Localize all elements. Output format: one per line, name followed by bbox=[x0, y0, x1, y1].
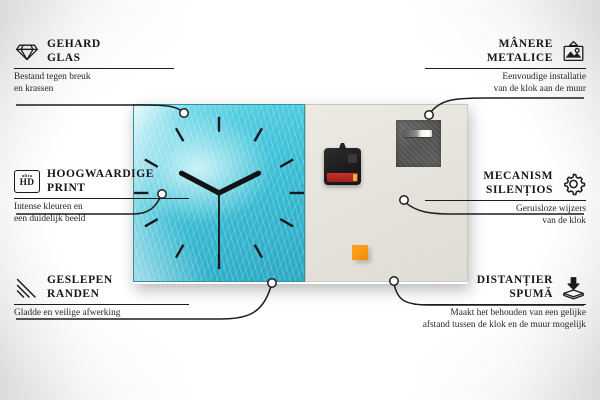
feature-title: HOOGWAARDIGE PRINT bbox=[47, 168, 154, 195]
feature-divider bbox=[14, 198, 189, 199]
feature-description: Maakt het behouden van een gelijke afsta… bbox=[414, 308, 586, 331]
feature-header: MECANISM SILENȚIOS bbox=[425, 170, 586, 197]
metal-hanger-plate bbox=[396, 120, 441, 167]
mechanism-hook bbox=[336, 143, 349, 150]
feature-divider bbox=[425, 200, 586, 201]
feature-header: MÂNERE METALICE bbox=[425, 38, 586, 65]
feature-description: Bestand tegen breuk en krassen bbox=[14, 72, 174, 95]
feature-description: Gladde en veilige afwerking bbox=[14, 308, 189, 320]
feature-title: DISTANȚIER SPUMĂ bbox=[477, 274, 553, 301]
feature-header: ultra HD HOOGWAARDIGE PRINT bbox=[14, 168, 189, 195]
feature-description: Eenvoudige installatie van de klok aan d… bbox=[425, 72, 586, 95]
feature-title: GESLEPEN RANDEN bbox=[47, 274, 113, 301]
gear-icon bbox=[560, 172, 586, 196]
feature-hoogwaardige-print: ultra HD HOOGWAARDIGE PRINT Intense kleu… bbox=[14, 168, 189, 225]
feature-title: MÂNERE METALICE bbox=[487, 38, 553, 65]
infographic-canvas: GEHARD GLAS Bestand tegen breuk en krass… bbox=[0, 0, 600, 400]
feature-description: Geruisloze wijzers van de klok bbox=[425, 204, 586, 227]
feature-geslepen-randen: GESLEPEN RANDEN Gladde en veilige afwerk… bbox=[14, 274, 189, 320]
feature-description: Intense kleuren en een duidelijk beeld bbox=[14, 202, 189, 225]
feature-divider bbox=[14, 68, 174, 69]
feature-distantier-spuma: DISTANȚIER SPUMĂ Maakt het behouden van … bbox=[414, 274, 586, 331]
feature-divider bbox=[414, 304, 586, 305]
foam-spacer bbox=[352, 245, 368, 260]
feature-title: MECANISM SILENȚIOS bbox=[483, 170, 553, 197]
diamond-icon bbox=[14, 40, 40, 64]
mechanism-dial bbox=[348, 154, 357, 163]
feature-divider bbox=[14, 304, 189, 305]
battery bbox=[327, 173, 358, 182]
feature-header: GESLEPEN RANDEN bbox=[14, 274, 189, 301]
feature-gehard-glas: GEHARD GLAS Bestand tegen breuk en krass… bbox=[14, 38, 174, 95]
ultra-hd-icon: ultra HD bbox=[14, 170, 40, 194]
feature-title: GEHARD GLAS bbox=[47, 38, 101, 65]
clock-mechanism bbox=[324, 148, 361, 185]
hd-badge: ultra HD bbox=[14, 170, 40, 193]
hanger-slot bbox=[404, 130, 432, 137]
bevelled-edges-icon bbox=[14, 276, 40, 300]
feature-mecanism-silentios: MECANISM SILENȚIOS Geruisloze wijzers va… bbox=[425, 170, 586, 227]
feature-header: GEHARD GLAS bbox=[14, 38, 174, 65]
spacer-pad-icon bbox=[560, 276, 586, 300]
feature-divider bbox=[425, 68, 586, 69]
feature-manere-metalice: MÂNERE METALICE Eenvoudige installatie v… bbox=[425, 38, 586, 95]
feature-header: DISTANȚIER SPUMĂ bbox=[414, 274, 586, 301]
picture-hanger-icon bbox=[560, 40, 586, 64]
